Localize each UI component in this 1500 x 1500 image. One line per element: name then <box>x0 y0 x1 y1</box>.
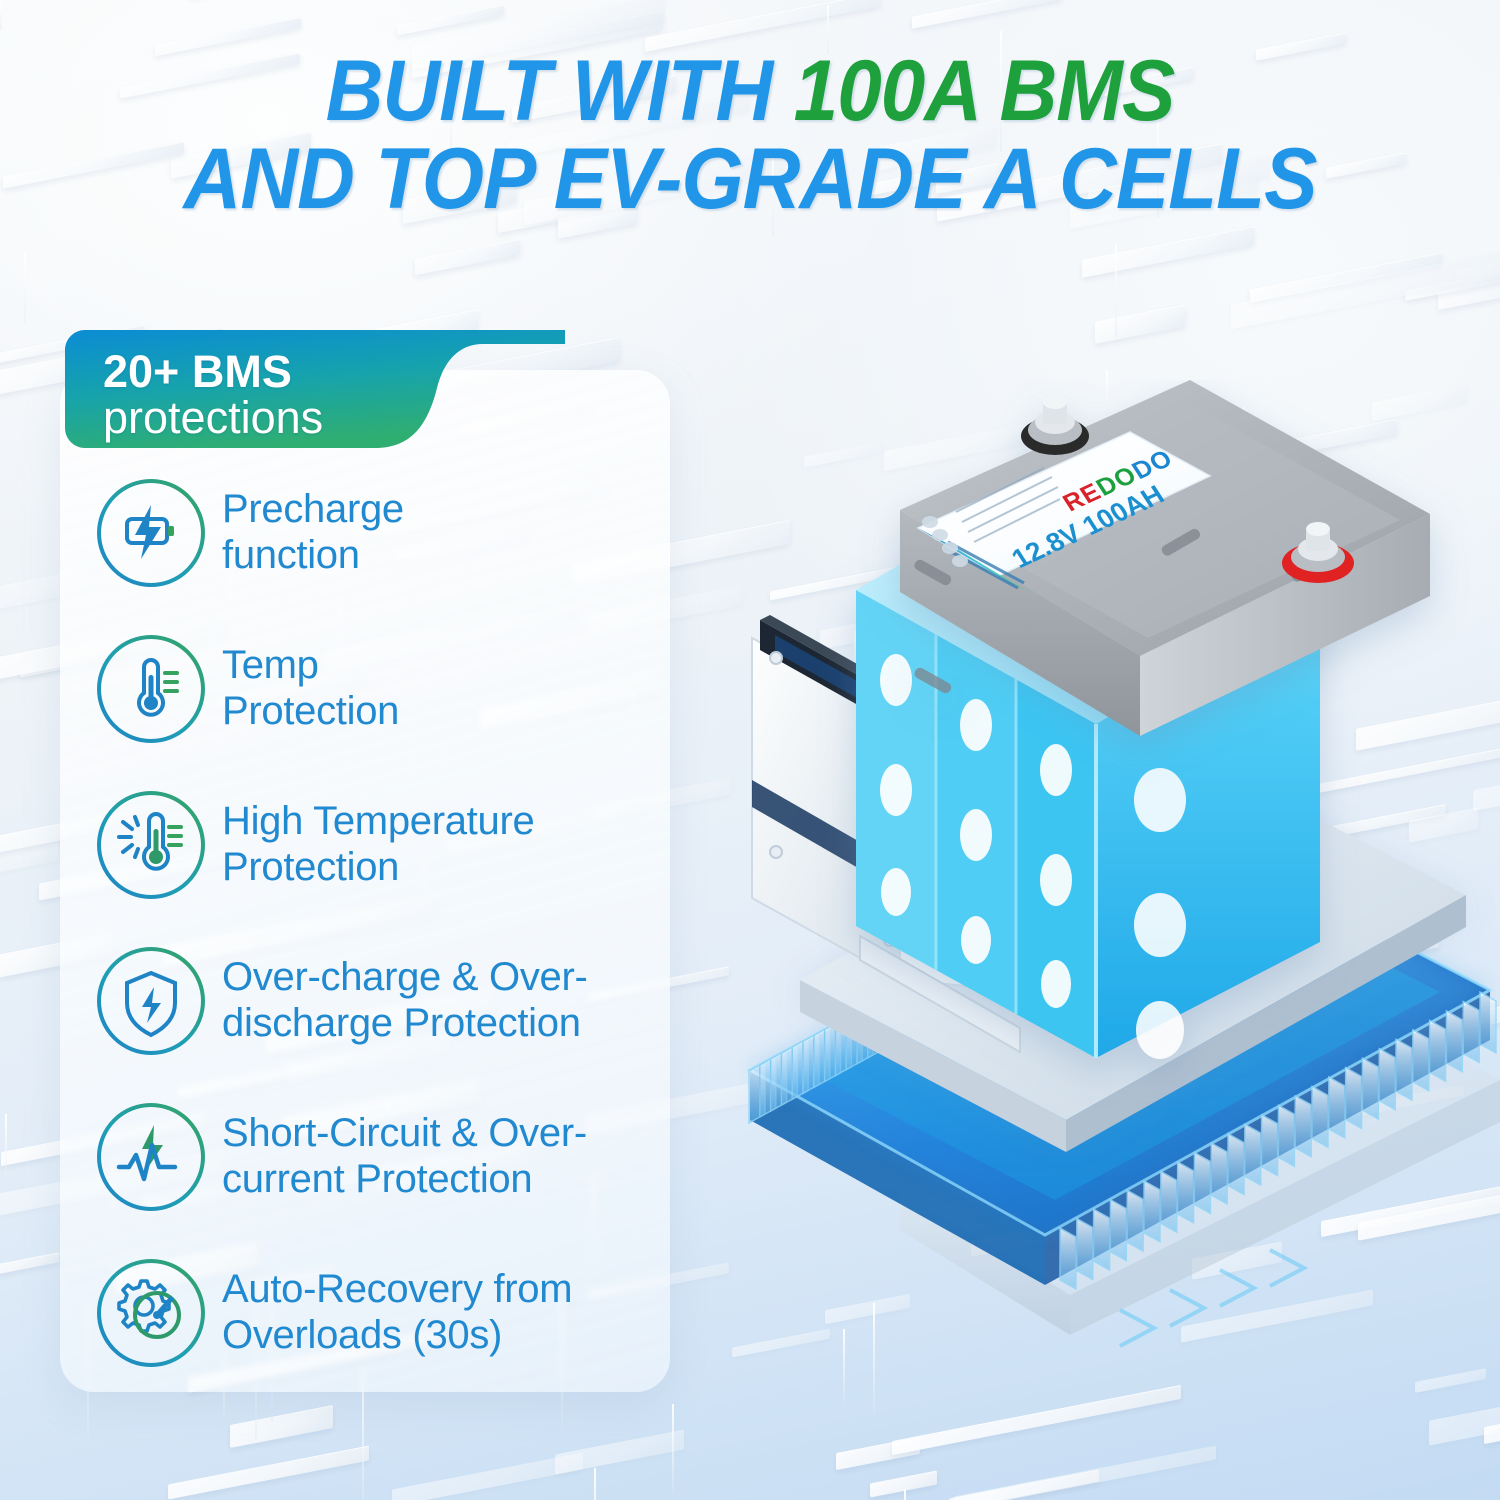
feature-item-0: Precharge function <box>60 480 680 585</box>
feature-label-line2-3: discharge Protection <box>222 1001 588 1046</box>
feature-label-line1-0: Precharge <box>222 487 404 532</box>
badge-line-2: protections <box>103 395 323 441</box>
battery-bolt-icon <box>94 476 208 590</box>
feature-item-2: High Temperature Protection <box>60 792 680 897</box>
feature-label-2: High Temperature Protection <box>222 799 534 889</box>
feature-label-line1-2: High Temperature <box>222 799 534 844</box>
terminal-negative <box>1021 395 1089 455</box>
bms-protections-badge: 20+ BMS protections <box>65 330 565 466</box>
feature-item-5: Auto-Recovery from Overloads (30s) <box>60 1260 680 1365</box>
feature-label-line2-4: current Protection <box>222 1157 587 1202</box>
badge-text: 20+ BMS protections <box>103 349 323 441</box>
waveform-bolt-icon <box>94 1100 208 1214</box>
headline-line-2: AND TOP EV-GRADE A CELLS <box>53 136 1448 224</box>
feature-label-5: Auto-Recovery from Overloads (30s) <box>222 1267 572 1357</box>
feature-label-line2-5: Overloads (30s) <box>222 1313 572 1358</box>
shield-bolt-icon <box>94 944 208 1058</box>
feature-label-1: Temp Protection <box>222 643 399 733</box>
feature-label-3: Over-charge & Over- discharge Protection <box>222 955 588 1045</box>
bms-feature-list: Precharge function <box>60 480 680 1416</box>
headline-line-1: BUILT WITH 100A BMS <box>53 48 1448 136</box>
feature-label-line1-3: Over-charge & Over- <box>222 955 588 1000</box>
feature-label-4: Short-Circuit & Over- current Protection <box>222 1111 587 1201</box>
battery-exploded-view: REDODO 12.8V 100AH <box>600 380 1500 1440</box>
badge-line-1: 20+ BMS <box>103 349 323 395</box>
feature-label-0: Precharge function <box>222 487 404 577</box>
feature-label-line1-1: Temp <box>222 643 399 688</box>
feature-label-line1-4: Short-Circuit & Over- <box>222 1111 587 1156</box>
feature-label-line2-1: Protection <box>222 689 399 734</box>
feature-item-3: Over-charge & Over- discharge Protection <box>60 948 680 1053</box>
page-headline: BUILT WITH 100A BMS AND TOP EV-GRADE A C… <box>53 48 1448 223</box>
feature-label-line2-2: Protection <box>222 845 534 890</box>
gear-gauge-icon <box>94 1256 208 1370</box>
feature-label-line2-0: function <box>222 533 404 578</box>
feature-item-1: Temp Protection <box>60 636 680 741</box>
headline-line-1-blue: BUILT WITH <box>326 43 794 139</box>
thermometer-icon <box>94 632 208 746</box>
feature-label-line1-5: Auto-Recovery from <box>222 1267 572 1312</box>
headline-line-1-green: 100A BMS <box>794 43 1175 139</box>
product-illustration: REDODO 12.8V 100AH <box>600 380 1500 1440</box>
feature-item-4: Short-Circuit & Over- current Protection <box>60 1104 680 1209</box>
sun-thermometer-icon <box>94 788 208 902</box>
